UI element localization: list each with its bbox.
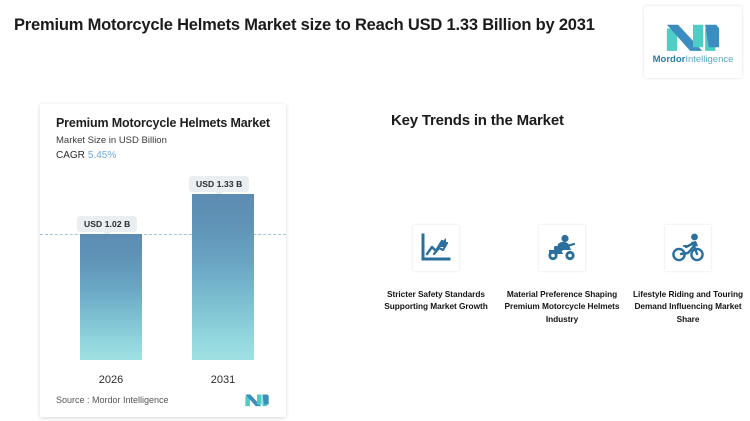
chart-card: Premium Motorcycle Helmets Market Market…	[40, 104, 286, 417]
x-tick-2026: 2026	[80, 374, 142, 386]
source-row: Source : Mordor Intelligence	[56, 392, 270, 407]
cagr-value: 5.45%	[85, 150, 116, 161]
trend-item-1: Stricter Safety Standards Supporting Mar…	[378, 225, 494, 325]
page-title: Premium Motorcycle Helmets Market size t…	[14, 14, 614, 37]
trends-title: Key Trends in the Market	[391, 112, 564, 129]
chart-subtitle: Market Size in USD Billion	[56, 135, 167, 146]
trend-icon-box-2	[539, 225, 585, 271]
bar-value-label-2026: USD 1.02 B	[77, 216, 137, 232]
mordor-m-mark-icon	[244, 392, 270, 407]
trend-item-3: Lifestyle Riding and Touring Demand Infl…	[630, 225, 746, 325]
trend-item-2: Material Preference Shaping Premium Moto…	[504, 225, 620, 325]
bar-2031[interactable]	[192, 194, 254, 360]
poster-root: Premium Motorcycle Helmets Market size t…	[0, 0, 750, 421]
brand-name: MordorIntelligence	[653, 55, 734, 65]
x-tick-2031: 2031	[192, 374, 254, 386]
trends-row: Stricter Safety Standards Supporting Mar…	[378, 225, 746, 325]
chart-title: Premium Motorcycle Helmets Market	[56, 116, 270, 130]
growth-chart-arrow-icon	[420, 233, 452, 263]
cyclist-rider-icon	[671, 233, 705, 263]
brand-name-bold: Mordor	[653, 54, 686, 65]
bar-2026[interactable]	[80, 234, 142, 360]
chart-cagr: CAGR5.45%	[56, 150, 116, 161]
bar-value-label-2031: USD 1.33 B	[189, 176, 249, 192]
motorcycle-rider-icon	[545, 234, 579, 262]
trend-icon-box-3	[665, 225, 711, 271]
cagr-label: CAGR	[56, 150, 85, 161]
brand-logo: MordorIntelligence	[644, 6, 742, 78]
brand-name-light: Intelligence	[685, 54, 733, 65]
trend-icon-box-1	[413, 225, 459, 271]
source-label: Source : Mordor Intelligence	[56, 395, 169, 405]
trend-caption-2: Material Preference Shaping Premium Moto…	[504, 288, 620, 325]
mordor-m-logo-icon	[665, 19, 721, 53]
plot-area: USD 1.02 B 2026 USD 1.33 B 2031	[40, 174, 286, 374]
trend-caption-1: Stricter Safety Standards Supporting Mar…	[378, 288, 494, 313]
trend-caption-3: Lifestyle Riding and Touring Demand Infl…	[630, 288, 746, 325]
